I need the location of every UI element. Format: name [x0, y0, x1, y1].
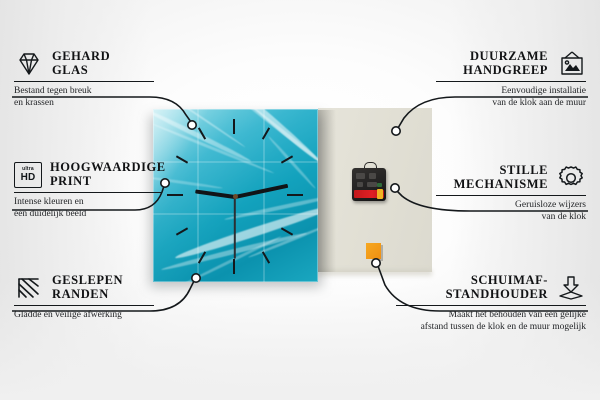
infographic-canvas: GEHARD GLAS Bestand tegen breuk en krass…: [0, 0, 600, 400]
callout-rule: [396, 305, 586, 306]
callout-schuimaf-standhouder[interactable]: SCHUIMAF- STANDHOUDER Maakt het behouden…: [396, 274, 586, 333]
callout-stille-mechanisme[interactable]: STILLE MECHANISME Geruisloze wijzers van…: [436, 164, 586, 223]
callout-sub-line1: Geruisloze wijzers: [436, 200, 586, 212]
callout-title-line2: HANDGREEP: [463, 64, 548, 78]
callout-rule: [14, 305, 154, 306]
callout-title-line2: MECHANISME: [454, 178, 548, 192]
callout-title-line2: STANDHOUDER: [446, 288, 548, 302]
foam-spacer-pad: [366, 243, 381, 259]
callout-title-line1: HOOGWAARDIGE: [50, 161, 166, 175]
gear-icon: [556, 165, 586, 191]
callout-gehard-glas[interactable]: GEHARD GLAS Bestand tegen breuk en krass…: [14, 50, 164, 109]
callout-sub-line2: een duidelijk beeld: [14, 209, 174, 221]
ultra-hd-icon-big-text: HD: [21, 173, 36, 183]
beveled-edges-icon: [14, 275, 44, 301]
clock-center-hub: [233, 194, 238, 199]
clock-second-hand: [234, 196, 236, 258]
callout-rule: [14, 81, 154, 82]
callout-title-line1: GEHARD: [52, 50, 110, 64]
callout-title-line1: GESLEPEN: [52, 274, 123, 288]
callout-sub-line1: Eenvoudige installatie: [436, 86, 586, 98]
callout-sub-line1: Intense kleuren en: [14, 197, 174, 209]
callout-hoogwaardige-print[interactable]: ultra HD HOOGWAARDIGE PRINT Intense kleu…: [14, 161, 174, 220]
battery-terminal: [377, 189, 383, 199]
callout-title-line2: PRINT: [50, 175, 166, 189]
ultra-hd-icon: ultra HD: [14, 162, 42, 188]
ultra-hd-icon-small-text: ultra: [22, 167, 34, 172]
callout-rule: [436, 81, 586, 82]
clock-face: [153, 109, 318, 282]
callout-sub-line1: Maakt het behouden van een gelijke: [396, 310, 586, 322]
callout-title-line1: STILLE: [454, 164, 548, 178]
callout-sub-line1: Bestand tegen breuk: [14, 86, 164, 98]
picture-hanger-icon: [556, 51, 586, 77]
callout-rule: [14, 192, 162, 193]
diamond-icon: [14, 51, 44, 77]
callout-geslepen-randen[interactable]: GESLEPEN RANDEN Gladde en veilige afwerk…: [14, 274, 164, 322]
callout-duurzame-handgreep[interactable]: DUURZAME HANDGREEP Eenvoudige installati…: [436, 50, 586, 109]
callout-title-line1: DUURZAME: [463, 50, 548, 64]
callout-sub-line2: van de klok aan de muur: [436, 98, 586, 110]
callout-rule: [436, 195, 586, 196]
callout-sub-line2: afstand tussen de klok en de muur mogeli…: [396, 322, 586, 334]
callout-title-line1: SCHUIMAF-: [446, 274, 548, 288]
callout-sub-line2: van de klok: [436, 212, 586, 224]
spacer-arrow-icon: [556, 275, 586, 301]
callout-sub-line1: Gladde en veilige afwerking: [14, 310, 164, 322]
callout-title-line2: RANDEN: [52, 288, 123, 302]
callout-sub-line2: en krassen: [14, 98, 164, 110]
callout-title-line2: GLAS: [52, 64, 110, 78]
